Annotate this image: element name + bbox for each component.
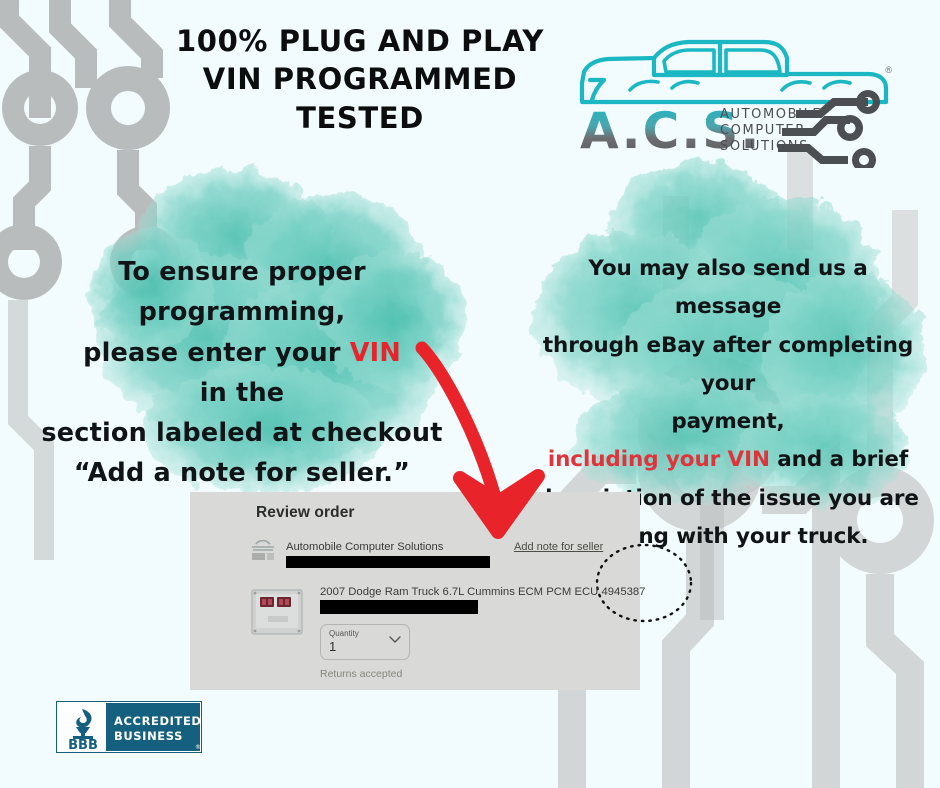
quantity-select[interactable]: Quantity 1 bbox=[320, 624, 410, 660]
quantity-value: 1 bbox=[329, 639, 336, 654]
left-line-1: To ensure proper bbox=[32, 252, 452, 292]
acs-logo: A.C.S. AUTOMOBILE COMPUTER SOLUTIONS ® bbox=[568, 28, 898, 168]
item-title[interactable]: 2007 Dodge Ram Truck 6.7L Cummins ECM PC… bbox=[320, 586, 645, 598]
left-line-6: “Add a note for seller.” bbox=[32, 453, 452, 493]
right-line-1: You may also send us a message bbox=[532, 250, 924, 327]
bbb-business-text: BUSINESS bbox=[114, 729, 183, 743]
quantity-label: Quantity bbox=[329, 629, 359, 638]
bbb-accredited-badge: BBB ACCREDITED BUSINESS ® bbox=[56, 701, 202, 753]
headline-line-2: VIN PROGRAMMED bbox=[110, 60, 610, 98]
review-order-heading: Review order bbox=[256, 504, 355, 522]
right-line-4-text: and a brief bbox=[770, 447, 908, 472]
left-line-4: in the bbox=[32, 373, 452, 413]
headline-line-3: TESTED bbox=[110, 99, 610, 137]
dotted-circle-highlight-icon bbox=[594, 542, 694, 624]
red-curved-arrow bbox=[398, 336, 588, 551]
left-line-3: please enter your VIN bbox=[32, 333, 452, 373]
returns-accepted-text: Returns accepted bbox=[320, 668, 402, 680]
left-line-2: programming, bbox=[32, 292, 452, 332]
bbb-registered-mark: ® bbox=[195, 744, 201, 751]
instructions-left: To ensure proper programming, please ent… bbox=[32, 252, 452, 494]
seller-logo-icon bbox=[248, 538, 278, 564]
poster-canvas: 100% PLUG AND PLAY VIN PROGRAMMED TESTED bbox=[0, 0, 940, 788]
right-line-3: payment, bbox=[532, 403, 924, 441]
redacted-seller-detail bbox=[286, 556, 490, 568]
left-line-5: section labeled at checkout bbox=[32, 413, 452, 453]
bbb-initials: BBB bbox=[68, 738, 98, 753]
redacted-price bbox=[320, 600, 478, 614]
headline-line-1: 100% PLUG AND PLAY bbox=[110, 22, 610, 60]
ecm-module-icon[interactable] bbox=[246, 584, 308, 642]
bbb-accredited-text: ACCREDITED bbox=[114, 714, 202, 728]
vin-highlight: VIN bbox=[350, 338, 401, 368]
left-line-3-text: please enter your bbox=[83, 338, 350, 368]
headline: 100% PLUG AND PLAY VIN PROGRAMMED TESTED bbox=[110, 22, 610, 137]
registered-trademark-mark: ® bbox=[885, 65, 892, 75]
chevron-down-icon bbox=[389, 636, 401, 644]
right-line-2: through eBay after completing your bbox=[532, 327, 924, 404]
right-line-4: including your VIN and a brief bbox=[532, 441, 924, 479]
pickup-truck-outline-icon bbox=[582, 42, 886, 102]
